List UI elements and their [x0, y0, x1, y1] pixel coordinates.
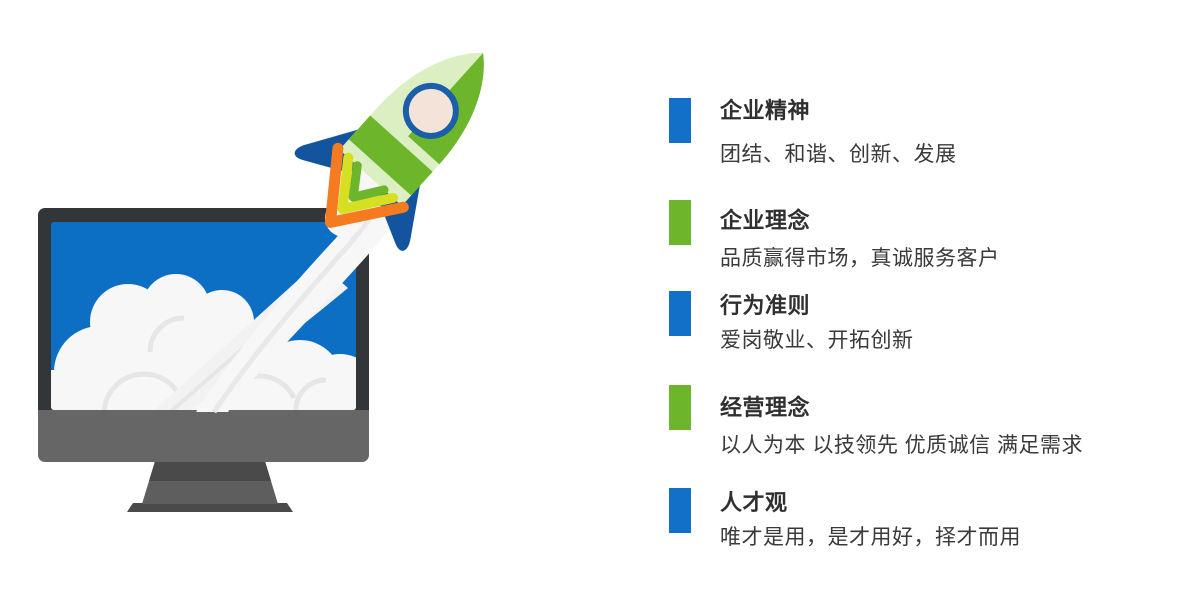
monitor-base-foot [127, 503, 293, 512]
value-text-block: 人才观 唯才是用，是才用好，择才而用 [720, 488, 1190, 553]
rocket-monitor-illustration [0, 0, 560, 606]
value-text-block: 企业精神 团结、和谐、创新、发展 [720, 96, 1190, 170]
value-body: 以人为本 以技领先 优质诚信 满足需求 [720, 431, 1190, 461]
value-text-block: 经营理念 以人为本 以技领先 优质诚信 满足需求 [720, 393, 1190, 461]
value-heading: 人才观 [720, 488, 1190, 518]
value-heading: 企业精神 [720, 96, 1190, 126]
value-heading: 企业理念 [720, 206, 1190, 236]
value-body: 爱岗敬业、开拓创新 [720, 326, 1190, 356]
value-text-block: 企业理念 品质赢得市场，真诚服务客户 [720, 206, 1190, 274]
slide-canvas: 企业精神 团结、和谐、创新、发展 企业理念 品质赢得市场，真诚服务客户 行为准则… [0, 0, 1197, 606]
value-heading: 行为准则 [720, 291, 1190, 321]
value-marker-bar [669, 385, 691, 430]
value-heading: 经营理念 [720, 393, 1190, 423]
value-marker-bar [669, 200, 691, 245]
value-marker-bar [669, 488, 691, 533]
value-text-block: 行为准则 爱岗敬业、开拓创新 [720, 291, 1190, 356]
company-values-list: 企业精神 团结、和谐、创新、发展 企业理念 品质赢得市场，真诚服务客户 行为准则… [660, 0, 1197, 606]
value-body: 团结、和谐、创新、发展 [720, 140, 1190, 170]
value-marker-bar [669, 291, 691, 336]
value-marker-bar [669, 98, 691, 143]
value-body: 品质赢得市场，真诚服务客户 [720, 244, 1190, 274]
monitor-chin [38, 410, 369, 462]
value-body: 唯才是用，是才用好，择才而用 [720, 523, 1190, 553]
